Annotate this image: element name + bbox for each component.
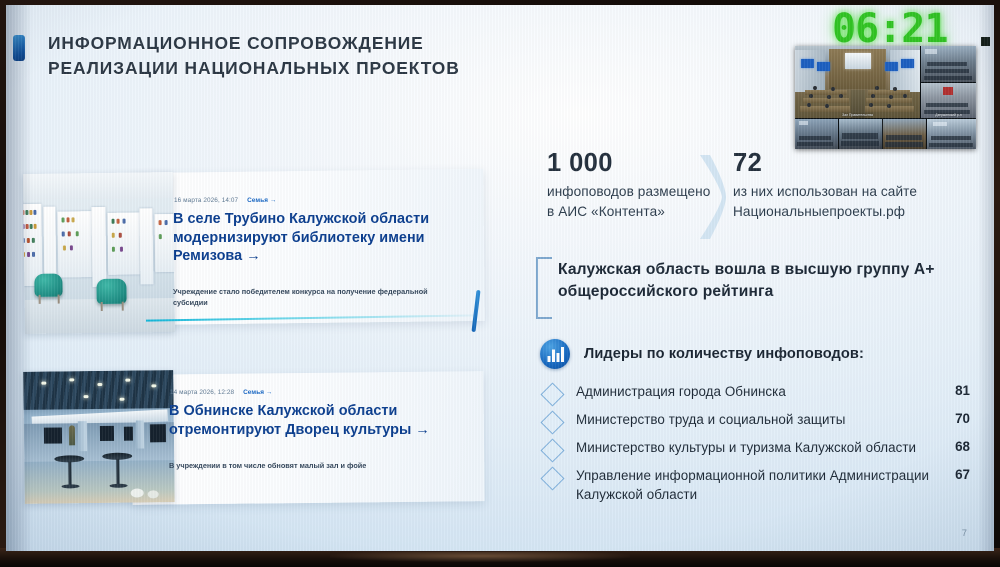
timer-indicator-dot	[981, 37, 990, 46]
photographed-screen-frame: ИНФОРМАЦИОННОЕ СОПРОВОЖДЕНИЕ РЕАЛИЗАЦИИ …	[0, 0, 1000, 567]
leader-name: Министерство культуры и туризма Калужско…	[576, 439, 944, 458]
statement-text: Калужская область вошла в высшую группу …	[558, 259, 958, 304]
stat-2-number: 72	[733, 149, 762, 178]
leaders-section-title: Лидеры по количеству инфоповодов:	[584, 346, 864, 362]
leader-count: 81	[944, 383, 970, 398]
news-card-2-subtitle: В учреждении в том числе обновят малый з…	[169, 460, 469, 471]
news-card-2-meta: 14 марта 2026, 12:28 Семья →	[170, 389, 272, 396]
news-card-2-headline[interactable]: В Обнинске Калужской области отремонтиру…	[169, 402, 474, 439]
list-item[interactable]: Министерство культуры и туризма Калужско…	[540, 439, 970, 459]
chevron-right-icon	[696, 153, 726, 241]
slide-accent-marker	[13, 35, 25, 61]
video-tile-7[interactable]	[927, 119, 976, 149]
video-tile-main-hall[interactable]: Зал Правительства	[795, 46, 920, 118]
list-item[interactable]: Министерство труда и социальной защиты 7…	[540, 411, 970, 431]
leader-count: 70	[944, 411, 970, 426]
leaders-list: Администрация города Обнинска 81 Министе…	[540, 383, 970, 512]
foyer-interior-photo	[23, 370, 175, 504]
library-interior-photo	[23, 172, 175, 334]
video-conference-grid[interactable]: Зал Правительства Дзержинский р-н	[795, 46, 976, 149]
video-tile-6[interactable]	[883, 119, 926, 149]
presentation-screen: ИНФОРМАЦИОННОЕ СОПРОВОЖДЕНИЕ РЕАЛИЗАЦИИ …	[6, 5, 994, 551]
news-card-2-date: 14 марта 2026, 12:28	[170, 389, 234, 396]
stat-1-number: 1 000	[547, 149, 613, 178]
bezel-light-reflection	[330, 552, 630, 562]
highlight-statement: Калужская область вошла в высшую группу …	[536, 257, 966, 315]
diamond-bullet-icon	[540, 382, 564, 406]
list-item[interactable]: Управление информационной политики Админ…	[540, 467, 970, 504]
news-card-1-date: 16 марта 2026, 14:07	[174, 197, 238, 204]
list-item[interactable]: Администрация города Обнинска 81	[540, 383, 970, 403]
page-title: ИНФОРМАЦИОННОЕ СОПРОВОЖДЕНИЕ РЕАЛИЗАЦИИ …	[48, 31, 518, 81]
video-tile-3[interactable]: Дзержинский р-н	[921, 83, 976, 118]
news-card-2-category[interactable]: Семья →	[243, 389, 272, 396]
leader-count: 68	[944, 439, 970, 454]
diamond-bullet-icon	[540, 438, 564, 462]
leader-count: 67	[944, 467, 970, 482]
screen-right-shadow	[978, 5, 994, 551]
video-tile-label: Зал Правительства	[795, 113, 920, 117]
news-card-1-meta: 16 марта 2026, 14:07 Семья →	[174, 197, 276, 204]
video-tile-4[interactable]	[795, 119, 838, 149]
countdown-timer: 06:21	[832, 7, 994, 51]
leader-name: Управление информационной политики Админ…	[576, 467, 944, 504]
diamond-bullet-icon	[540, 466, 564, 490]
stat-1-label: инфоповодов размещено в АИС «Контента»	[547, 182, 715, 222]
video-tile-5[interactable]	[839, 119, 882, 149]
leader-name: Министерство труда и социальной защиты	[576, 411, 944, 430]
news-card-1-subtitle: Учреждение стало победителем конкурса на…	[173, 286, 463, 309]
stat-2-label: из них использован на сайте Национальные…	[733, 182, 983, 222]
bar-chart-icon	[540, 339, 570, 369]
statement-bracket-decoration	[536, 257, 552, 319]
page-number: 7	[962, 528, 967, 539]
news-card-1-headline[interactable]: В селе Трубино Калужской области модерни…	[173, 210, 473, 266]
diamond-bullet-icon	[540, 410, 564, 434]
video-tile-2[interactable]	[921, 46, 976, 82]
leader-name: Администрация города Обнинска	[576, 383, 944, 402]
news-card-1-category[interactable]: Семья →	[247, 197, 276, 204]
video-tile-label: Дзержинский р-н	[921, 113, 976, 117]
